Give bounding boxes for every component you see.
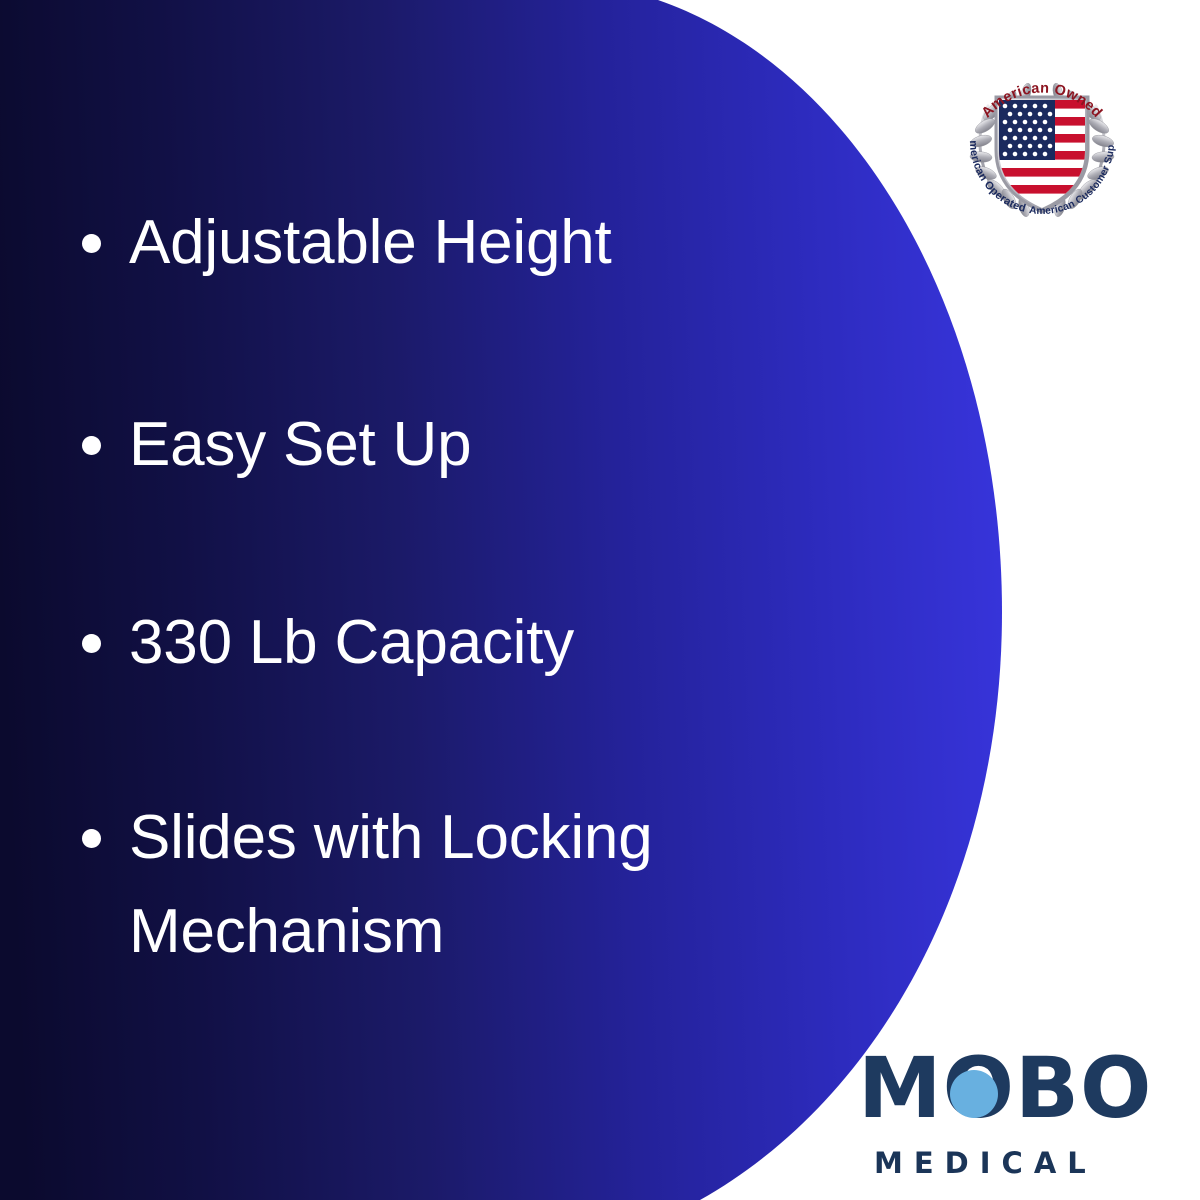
- bullet-dot-icon: [82, 634, 101, 653]
- bullet-dot-icon: [82, 829, 101, 848]
- feature-label: 330 Lb Capacity: [129, 596, 574, 690]
- feature-label: Adjustable Height: [129, 196, 612, 290]
- bullet-dot-icon: [82, 234, 101, 253]
- spacer: [82, 691, 882, 791]
- seal-svg: American Owned American Operated America…: [952, 42, 1132, 232]
- feature-label: Easy Set Up: [129, 398, 471, 492]
- feature-label: Slides with Locking Mechanism: [129, 791, 652, 979]
- american-owned-seal: American Owned American Operated America…: [952, 42, 1132, 232]
- list-item: 330 Lb Capacity: [82, 596, 882, 690]
- product-feature-card: Adjustable Height Easy Set Up 330 Lb Cap…: [0, 0, 1200, 1200]
- logo-dot-icon: [950, 1070, 998, 1118]
- feature-list: Adjustable Height Easy Set Up 330 Lb Cap…: [82, 196, 882, 979]
- logo-subtitle: MEDICAL: [874, 1146, 1172, 1180]
- spacer: [82, 290, 882, 398]
- list-item: Adjustable Height: [82, 196, 882, 290]
- bullet-dot-icon: [82, 436, 101, 455]
- list-item: Easy Set Up: [82, 398, 882, 492]
- list-item: Slides with Locking Mechanism: [82, 791, 882, 979]
- logo-wordmark: MOBO: [858, 1046, 1172, 1130]
- spacer: [82, 492, 882, 596]
- mobo-medical-logo: MOBO MEDICAL: [852, 1046, 1172, 1186]
